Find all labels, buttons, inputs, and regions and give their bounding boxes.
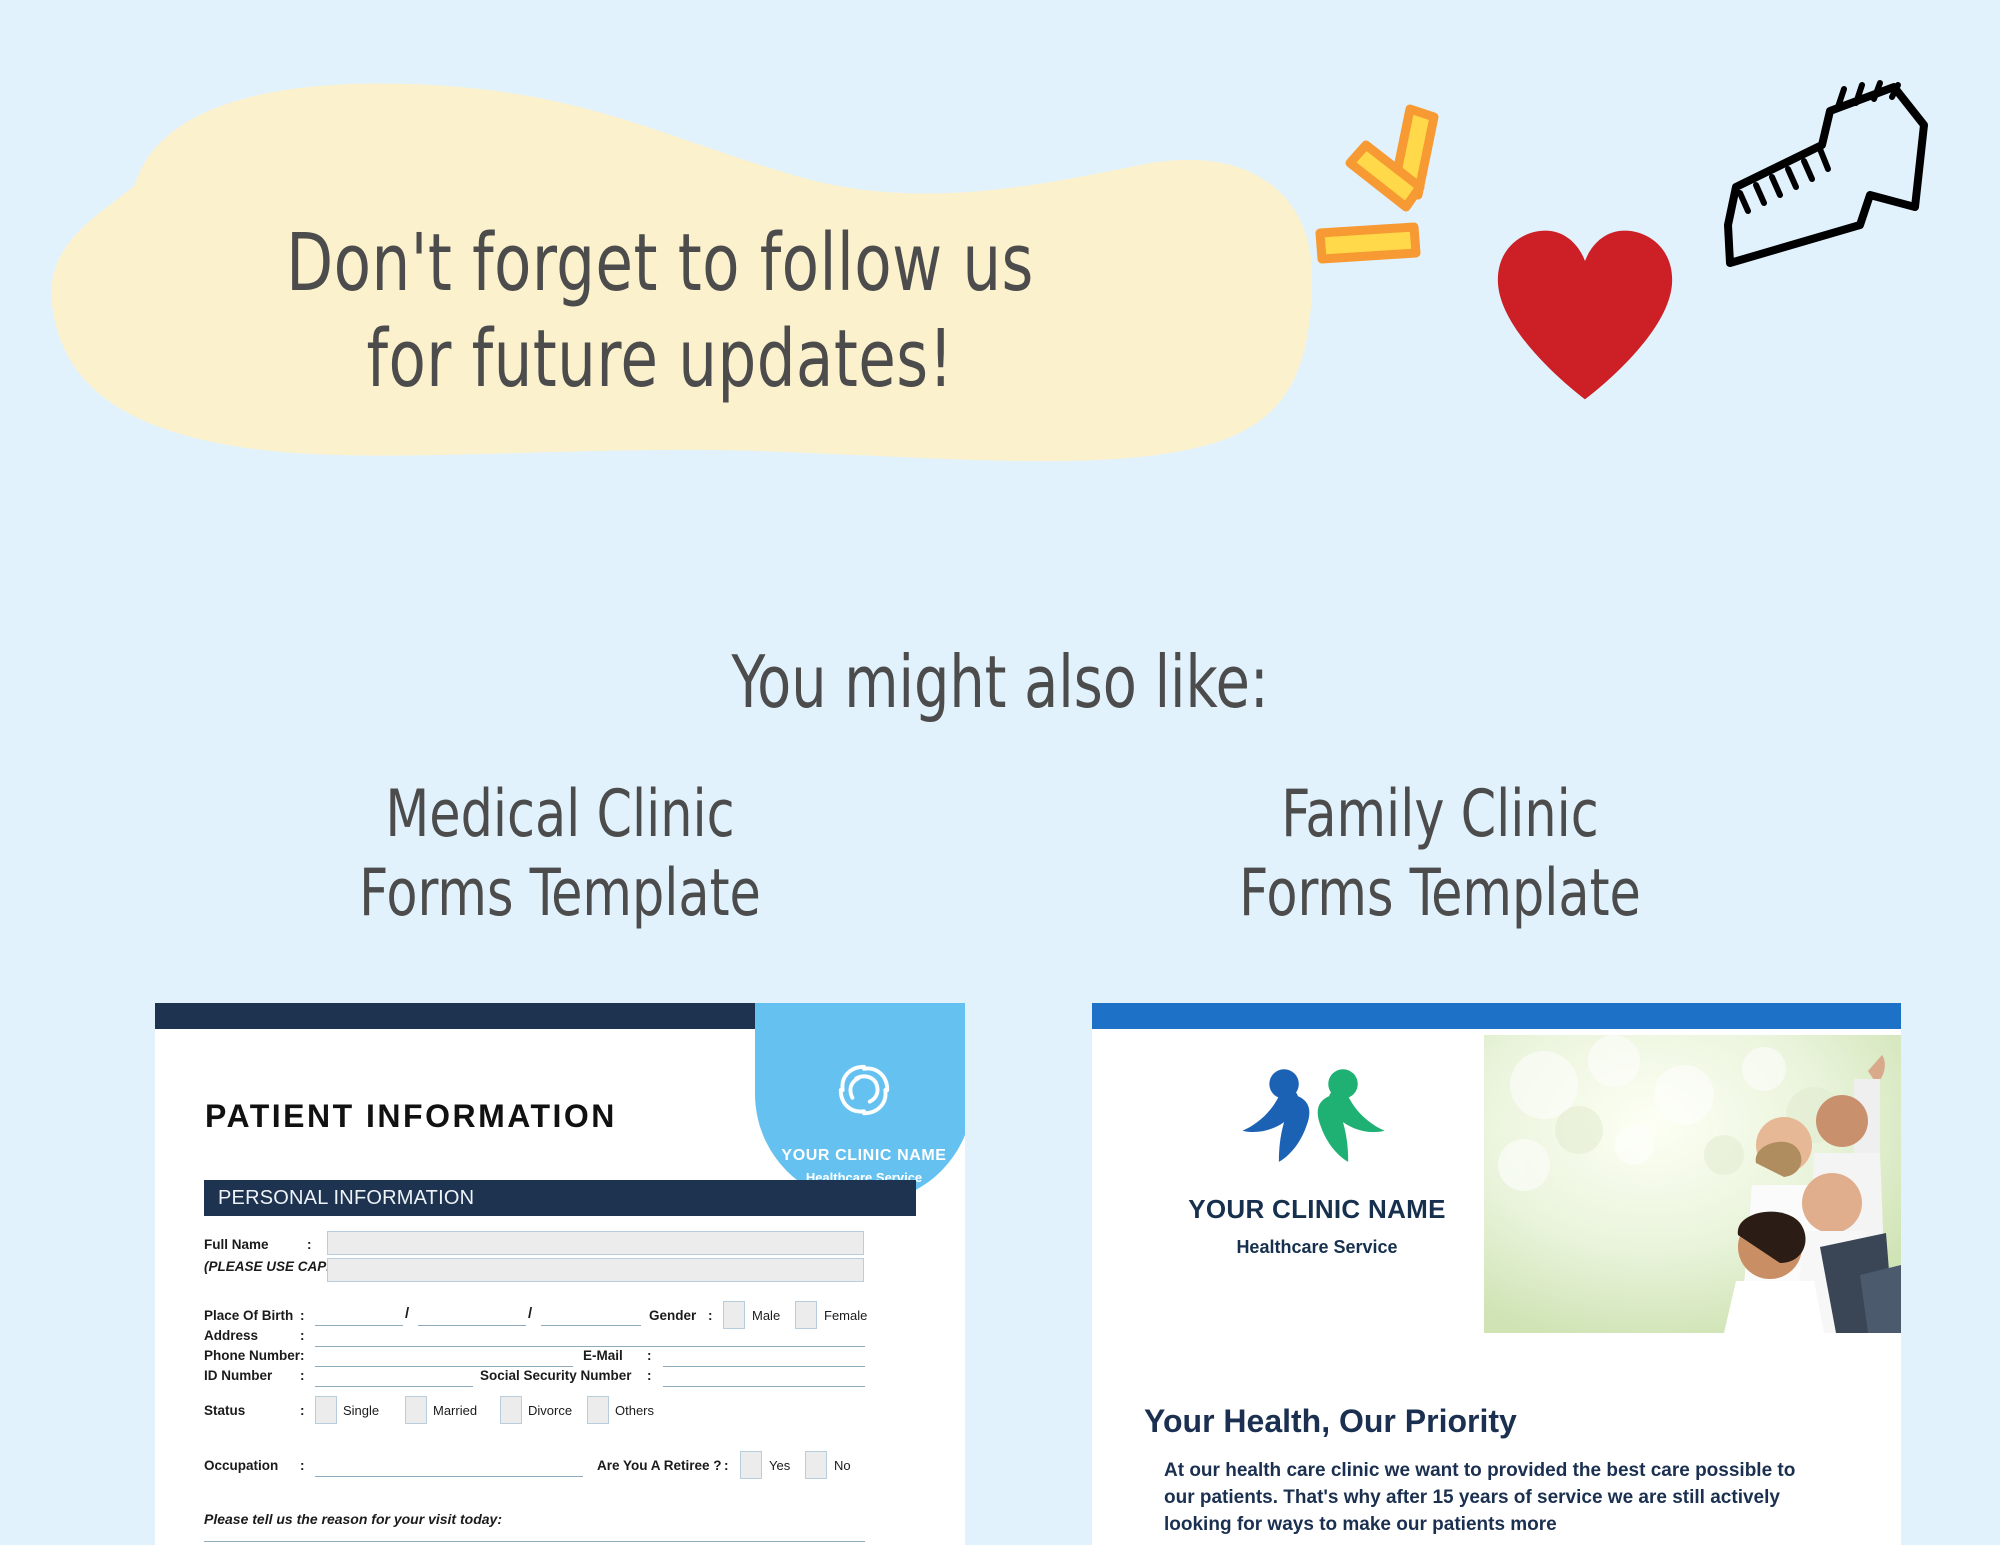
input-ssn[interactable] <box>663 1386 865 1387</box>
family-clinic-sub: Healthcare Service <box>1162 1237 1472 1258</box>
label-retiree-no: No <box>834 1458 851 1473</box>
colon-retiree: : <box>724 1458 729 1473</box>
family-top-bar <box>1092 1003 1901 1029</box>
card-title-medical-line1: Medical Clinic <box>195 775 926 854</box>
page-headline: Don't forget to follow us for future upd… <box>127 215 1193 408</box>
colon-full-name: : <box>307 1237 312 1252</box>
input-full-name[interactable] <box>327 1231 864 1255</box>
family-clinic-name: YOUR CLINIC NAME <box>1162 1194 1472 1225</box>
family-people-logo-icon <box>1227 1051 1407 1181</box>
label-place-of-birth: Place Of Birth <box>204 1308 293 1323</box>
colon-occupation: : <box>300 1458 305 1473</box>
label-gender-male: Male <box>752 1308 780 1323</box>
label-retiree: Are You A Retiree ? <box>597 1458 722 1473</box>
colon-id: : <box>300 1368 305 1383</box>
label-status-single: Single <box>343 1403 379 1418</box>
checkbox-gender-male[interactable] <box>723 1301 745 1329</box>
input-birth-year[interactable] <box>541 1325 641 1326</box>
checkbox-gender-female[interactable] <box>795 1301 817 1329</box>
clinic-badge-name: YOUR CLINIC NAME <box>781 1147 946 1165</box>
input-birth-month[interactable] <box>418 1325 526 1326</box>
input-address[interactable] <box>315 1346 865 1347</box>
label-status-married: Married <box>433 1403 477 1418</box>
patient-information-heading: PATIENT INFORMATION <box>205 1098 617 1135</box>
label-id-number: ID Number <box>204 1368 272 1383</box>
swirl-logo-icon <box>833 1059 895 1121</box>
arrow-up-right-icon <box>1710 75 1950 275</box>
headline-blob: Don't forget to follow us for future upd… <box>40 65 1320 465</box>
label-ssn: Social Security Number <box>480 1368 632 1383</box>
colon-address: : <box>300 1328 305 1343</box>
card-title-family-line2: Forms Template <box>1075 854 1806 933</box>
checkbox-status-married[interactable] <box>405 1396 427 1424</box>
colon-ssn: : <box>647 1368 652 1383</box>
family-body-text: At our health care clinic we want to pro… <box>1164 1458 1804 1539</box>
card-title-medical: Medical Clinic Forms Template <box>195 775 926 934</box>
personal-information-bar: PERSONAL INFORMATION <box>204 1180 916 1216</box>
label-retiree-yes: Yes <box>769 1458 790 1473</box>
heart-icon <box>1490 225 1680 405</box>
label-address: Address <box>204 1328 258 1343</box>
checkbox-status-divorce[interactable] <box>500 1396 522 1424</box>
colon-gender: : <box>708 1308 713 1323</box>
poster-canvas: Don't forget to follow us for future upd… <box>0 0 2000 1545</box>
card-title-family-line1: Family Clinic <box>1075 775 1806 854</box>
label-full-name: Full Name <box>204 1237 269 1252</box>
input-phone-number[interactable] <box>315 1366 573 1367</box>
label-status: Status <box>204 1403 245 1418</box>
checkbox-retiree-yes[interactable] <box>740 1451 762 1479</box>
section-heading: You might also like: <box>140 640 1860 724</box>
slash-2: / <box>528 1305 532 1322</box>
label-gender-female: Female <box>824 1308 867 1323</box>
clinic-badge: YOUR CLINIC NAME Healthcare Service <box>755 1003 965 1203</box>
headline-line-1: Don't forget to follow us <box>127 215 1193 311</box>
label-phone-number: Phone Number <box>204 1348 300 1363</box>
label-status-divorce: Divorce <box>528 1403 572 1418</box>
checkbox-retiree-no[interactable] <box>805 1451 827 1479</box>
input-birth-city[interactable] <box>315 1325 403 1326</box>
label-reason-prompt: Please tell us the reason for your visit… <box>204 1511 502 1527</box>
colon-phone: : <box>300 1348 305 1363</box>
medical-form-preview[interactable]: YOUR CLINIC NAME Healthcare Service PATI… <box>155 1003 965 1545</box>
family-photo <box>1484 1035 1901 1333</box>
card-title-medical-line2: Forms Template <box>195 854 926 933</box>
input-full-name-2[interactable] <box>327 1258 864 1282</box>
headline-line-2: for future updates! <box>127 311 1193 407</box>
sparkle-icon <box>1310 95 1490 275</box>
label-status-others: Others <box>615 1403 654 1418</box>
input-id-number[interactable] <box>315 1386 473 1387</box>
slash-1: / <box>405 1305 409 1322</box>
label-gender: Gender <box>649 1308 696 1323</box>
label-email: E-Mail <box>583 1348 623 1363</box>
card-title-family: Family Clinic Forms Template <box>1075 775 1806 934</box>
checkbox-status-single[interactable] <box>315 1396 337 1424</box>
family-heading: Your Health, Our Priority <box>1144 1403 1517 1440</box>
input-occupation[interactable] <box>315 1476 583 1477</box>
input-reason-line-1[interactable] <box>204 1541 865 1542</box>
colon-email: : <box>647 1348 652 1363</box>
label-occupation: Occupation <box>204 1458 278 1473</box>
family-clinic-logo-block: YOUR CLINIC NAME Healthcare Service <box>1162 1051 1472 1258</box>
colon-place-of-birth: : <box>300 1308 305 1323</box>
family-form-preview[interactable]: YOUR CLINIC NAME Healthcare Service <box>1092 1003 1901 1545</box>
input-email[interactable] <box>663 1366 865 1367</box>
checkbox-status-others[interactable] <box>587 1396 609 1424</box>
colon-status: : <box>300 1403 305 1418</box>
